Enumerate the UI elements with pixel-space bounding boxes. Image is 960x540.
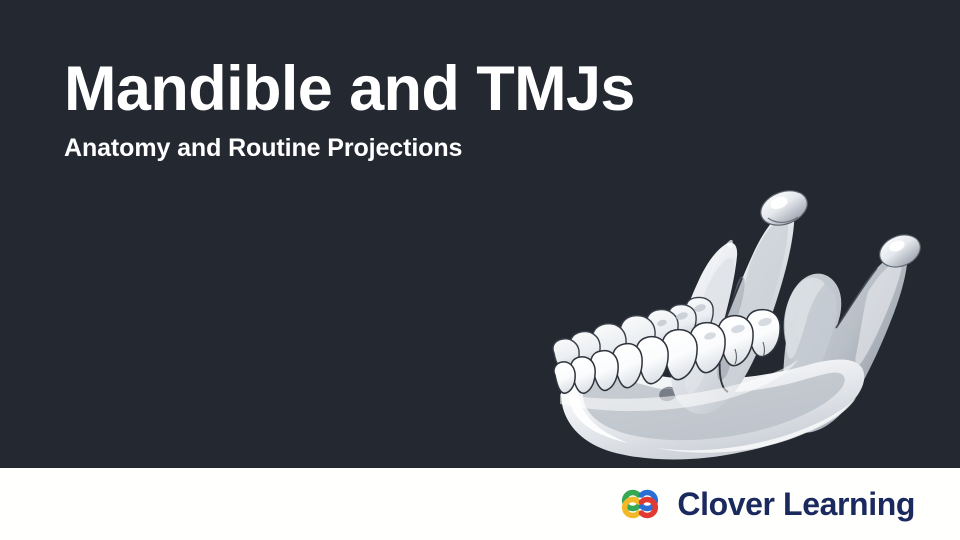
page-subtitle: Anatomy and Routine Projections — [64, 135, 764, 163]
brand-logo[interactable]: Clover Learning — [615, 481, 915, 527]
slide-root: Mandible and TMJs Anatomy and Routine Pr… — [0, 0, 960, 540]
footer-bar: Clover Learning — [0, 468, 960, 540]
page-title: Mandible and TMJs — [64, 58, 764, 121]
title-block: Mandible and TMJs Anatomy and Routine Pr… — [64, 58, 764, 163]
brand-name-label: Clover Learning — [677, 488, 915, 520]
near-condyle — [756, 185, 812, 231]
mandible-illustration — [536, 132, 960, 468]
clover-mark-icon — [615, 484, 665, 524]
